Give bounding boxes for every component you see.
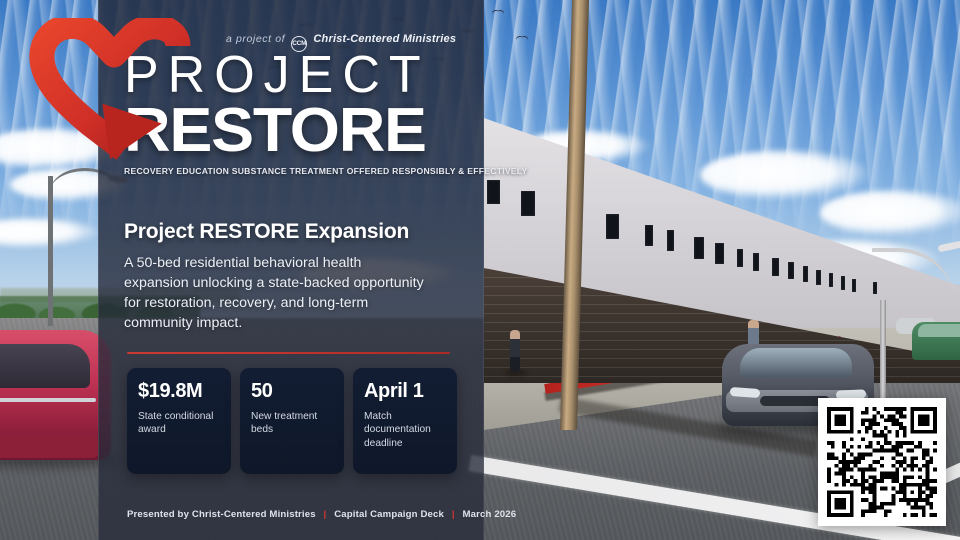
stat-card: $19.8M State conditional award: [127, 368, 231, 474]
stat-value: $19.8M: [138, 381, 220, 401]
footer-date: March 2026: [463, 509, 517, 520]
stat-label: State conditional award: [138, 410, 220, 437]
building-window: [841, 276, 845, 290]
bird-icon: [492, 10, 504, 16]
footer-presenter: Presented by Christ-Centered Ministries: [127, 509, 316, 520]
subcopy-text: A 50-bed residential behavioral health e…: [124, 253, 424, 334]
red-car-window: [0, 344, 90, 388]
building-window: [852, 279, 856, 292]
stat-label: New treatment beds: [251, 410, 333, 437]
stat-value: April 1: [364, 381, 446, 401]
bird-icon: [516, 36, 528, 42]
cloud-puff: [820, 190, 960, 236]
qr-code[interactable]: [818, 398, 946, 526]
footer-deck: Capital Campaign Deck: [334, 509, 444, 520]
red-car-bumper: [0, 436, 100, 458]
cloud-puff: [700, 150, 870, 200]
building-window: [667, 230, 674, 251]
stat-card: 50 New treatment beds: [240, 368, 344, 474]
pedestrian: [510, 330, 520, 372]
building-window: [788, 262, 794, 279]
stat-card-group: $19.8M State conditional award 50 New tr…: [127, 368, 457, 474]
building-window: [803, 266, 808, 282]
building-window: [487, 180, 500, 204]
presentation-slide: a project of CCM Christ-Centered Ministr…: [0, 0, 960, 540]
red-car-trim: [0, 398, 96, 402]
building-window: [645, 225, 653, 246]
brand-lead-text: a project of: [226, 33, 285, 45]
accent-divider: [127, 352, 450, 354]
building-window: [606, 214, 619, 239]
building-window: [829, 273, 833, 287]
street-lamp-post: [48, 176, 53, 326]
gray-sedan-windshield: [740, 348, 852, 378]
building-window: [816, 270, 821, 285]
building-window: [694, 237, 704, 259]
footer-separator: |: [324, 509, 327, 520]
building-window: [521, 191, 535, 216]
building-window: [715, 243, 724, 264]
green-car-window: [918, 324, 960, 337]
stat-label: Match documentation deadline: [364, 410, 446, 450]
footer-credits: Presented by Christ-Centered Ministries …: [127, 509, 516, 520]
page-title: Project RESTORE Expansion: [124, 220, 464, 244]
stat-card: April 1 Match documentation deadline: [353, 368, 457, 474]
heart-arrow-icon: [28, 18, 198, 168]
building-window: [772, 258, 779, 276]
building-window: [737, 249, 743, 267]
footer-separator: |: [452, 509, 455, 520]
panel-right-edge: [483, 0, 484, 540]
brand-organization: Christ-Centered Ministries: [313, 33, 456, 45]
building-window: [753, 253, 759, 271]
stat-value: 50: [251, 381, 333, 401]
qr-code-canvas[interactable]: [827, 407, 937, 517]
